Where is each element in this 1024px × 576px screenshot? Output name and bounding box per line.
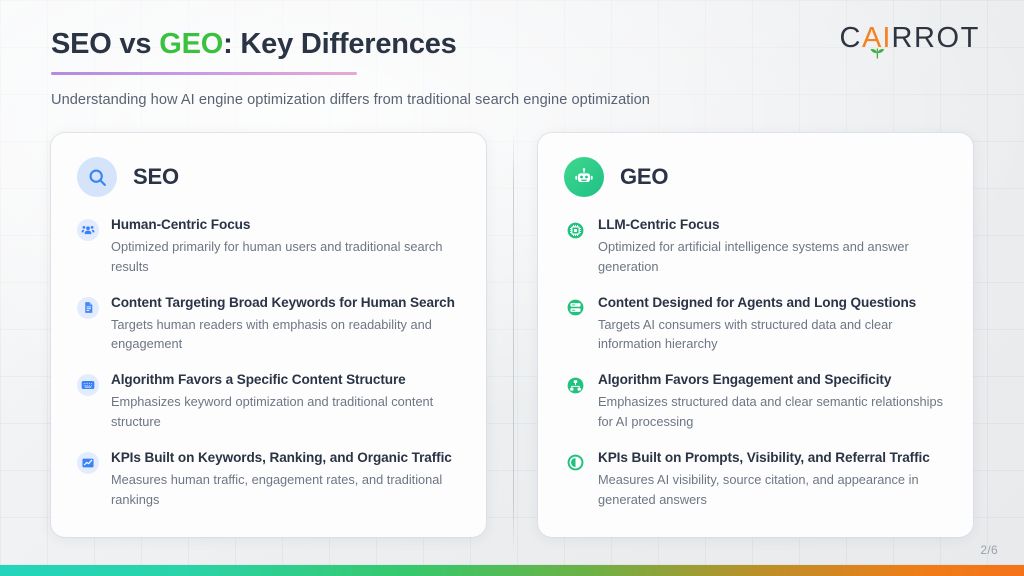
robot-icon xyxy=(564,157,604,197)
document-icon xyxy=(77,297,99,319)
page-title: SEO vs GEO: Key Differences xyxy=(51,28,650,61)
card-geo-title: GEO xyxy=(620,164,668,190)
list-item-body: LLM-Centric Focus Optimized for artifici… xyxy=(598,217,947,277)
list-item-body: Content Targeting Broad Keywords for Hum… xyxy=(111,295,460,355)
list-item-body: KPIs Built on Keywords, Ranking, and Org… xyxy=(111,450,460,510)
cpu-chip-icon xyxy=(564,219,586,241)
list-item-desc: Targets human readers with emphasis on r… xyxy=(111,315,460,355)
hierarchy-network-icon xyxy=(564,374,586,396)
list-item: Content Designed for Agents and Long Que… xyxy=(564,295,947,355)
list-item-title: KPIs Built on Prompts, Visibility, and R… xyxy=(598,450,947,467)
list-item-body: Algorithm Favors Engagement and Specific… xyxy=(598,372,947,432)
brand-logo: C AI RROT xyxy=(839,22,980,55)
list-item: Human-Centric Focus Optimized primarily … xyxy=(77,217,460,277)
list-item-desc: Emphasizes structured data and clear sem… xyxy=(598,392,947,432)
list-item-desc: Emphasizes keyword optimization and trad… xyxy=(111,392,460,432)
list-item-desc: Optimized for artificial intelligence sy… xyxy=(598,237,947,277)
list-item-body: Content Designed for Agents and Long Que… xyxy=(598,295,947,355)
logo-carrot-mark: AI xyxy=(862,22,891,55)
list-item-title: Algorithm Favors Engagement and Specific… xyxy=(598,372,947,389)
list-item-desc: Measures AI visibility, source citation,… xyxy=(598,470,947,510)
search-icon xyxy=(77,157,117,197)
chart-trending-up-icon xyxy=(77,452,99,474)
slide-canvas: SEO vs GEO: Key Differences Understandin… xyxy=(0,0,1024,576)
list-item-title: Content Targeting Broad Keywords for Hum… xyxy=(111,295,460,312)
list-item-body: Human-Centric Focus Optimized primarily … xyxy=(111,217,460,277)
keyboard-icon xyxy=(77,374,99,396)
server-stack-icon xyxy=(564,297,586,319)
slide-header: SEO vs GEO: Key Differences Understandin… xyxy=(51,28,650,108)
list-item-title: Content Designed for Agents and Long Que… xyxy=(598,295,947,312)
card-seo: SEO Human-Centric Focus Optimized primar… xyxy=(51,133,486,537)
list-item-title: KPIs Built on Keywords, Ranking, and Org… xyxy=(111,450,460,467)
list-item-title: Human-Centric Focus xyxy=(111,217,460,234)
page-subtitle: Understanding how AI engine optimization… xyxy=(51,92,650,108)
list-item-title: Algorithm Favors a Specific Content Stru… xyxy=(111,372,460,389)
list-item-desc: Measures human traffic, engagement rates… xyxy=(111,470,460,510)
card-seo-title: SEO xyxy=(133,164,179,190)
logo-text-rrot: RROT xyxy=(891,22,980,55)
list-item: Algorithm Favors a Specific Content Stru… xyxy=(77,372,460,432)
list-item-body: KPIs Built on Prompts, Visibility, and R… xyxy=(598,450,947,510)
title-part-pre: SEO vs xyxy=(51,28,159,60)
card-seo-header: SEO xyxy=(77,157,460,197)
list-item: KPIs Built on Keywords, Ranking, and Org… xyxy=(77,450,460,510)
page-indicator: 2/6 xyxy=(980,543,998,557)
list-item: Algorithm Favors Engagement and Specific… xyxy=(564,372,947,432)
list-item-desc: Targets AI consumers with structured dat… xyxy=(598,315,947,355)
carrot-leaf-icon xyxy=(868,34,886,67)
title-accent-geo: GEO xyxy=(159,28,223,60)
card-geo: GEO LLM-Centric Focus Optimized for arti… xyxy=(538,133,973,537)
column-divider xyxy=(513,133,514,553)
people-group-icon xyxy=(77,219,99,241)
title-underline xyxy=(51,72,357,75)
title-part-post: : Key Differences xyxy=(223,28,457,60)
logo-text-c: C xyxy=(839,22,862,55)
list-item-desc: Optimized primarily for human users and … xyxy=(111,237,460,277)
list-item-body: Algorithm Favors a Specific Content Stru… xyxy=(111,372,460,432)
contrast-circle-icon xyxy=(564,452,586,474)
accent-bar xyxy=(0,565,1024,576)
card-geo-header: GEO xyxy=(564,157,947,197)
list-item: LLM-Centric Focus Optimized for artifici… xyxy=(564,217,947,277)
list-item: Content Targeting Broad Keywords for Hum… xyxy=(77,295,460,355)
list-item-title: LLM-Centric Focus xyxy=(598,217,947,234)
list-item: KPIs Built on Prompts, Visibility, and R… xyxy=(564,450,947,510)
